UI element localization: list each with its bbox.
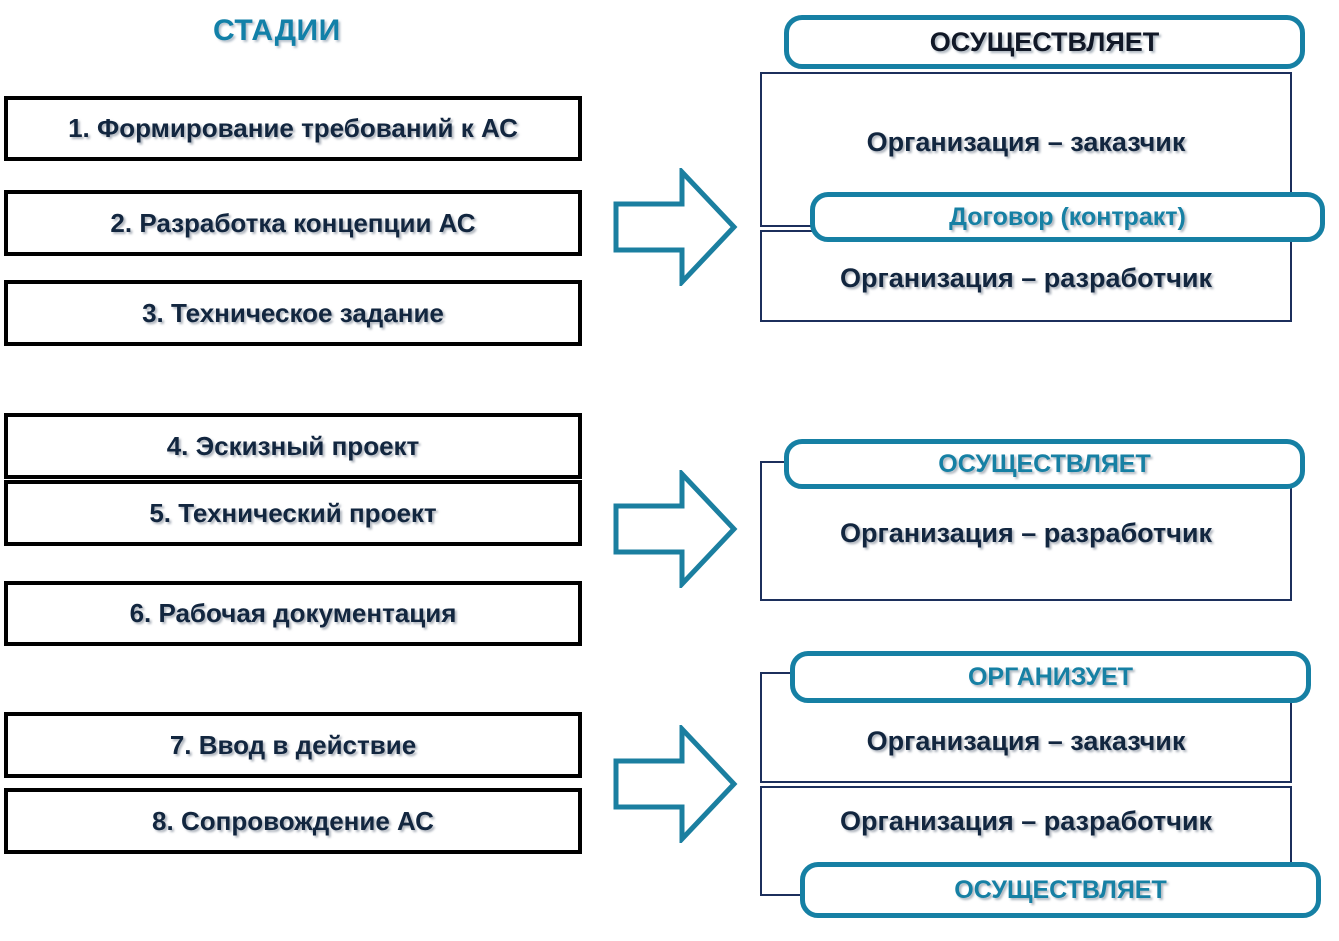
stage-box-7[interactable]: 7. Ввод в действие <box>4 712 582 778</box>
group-2-actor-1-label: Организация – разработчик <box>760 518 1292 549</box>
stage-box-4-label: 4. Эскизный проект <box>167 431 420 462</box>
group-2-pill-osushchestvlyaet[interactable]: ОСУЩЕСТВЛЯЕТ <box>784 439 1305 489</box>
stage-box-3-label: 3. Техническое задание <box>142 298 444 329</box>
stage-box-5[interactable]: 5. Технический проект <box>4 480 582 546</box>
stage-box-4[interactable]: 4. Эскизный проект <box>4 413 582 479</box>
group-1-actor-1-label: Организация – заказчик <box>760 127 1292 158</box>
stage-box-2-label: 2. Разработка концепции АС <box>110 208 475 239</box>
group-3-pill-osushchestvlyaet[interactable]: ОСУЩЕСТВЛЯЕТ <box>800 862 1321 918</box>
group-1-pill-contract[interactable]: Договор (контракт) <box>810 192 1325 242</box>
stage-box-6[interactable]: 6. Рабочая документация <box>4 581 582 646</box>
group-3-pill-top-label: ОРГАНИЗУЕТ <box>968 663 1133 692</box>
stage-box-5-label: 5. Технический проект <box>149 498 436 529</box>
group-1-pill-top-label: ОСУЩЕСТВЛЯЕТ <box>930 27 1159 58</box>
stage-box-6-label: 6. Рабочая документация <box>130 598 457 629</box>
diagram-canvas: СТАДИИ 1. Формирование требований к АС 2… <box>0 0 1339 941</box>
group-2-pill-top-label: ОСУЩЕСТВЛЯЕТ <box>938 450 1150 479</box>
stage-box-3[interactable]: 3. Техническое задание <box>4 280 582 346</box>
arrow-right-icon-3 <box>612 725 738 843</box>
stage-box-1-label: 1. Формирование требований к АС <box>68 113 518 144</box>
group-3-pill-organizuet[interactable]: ОРГАНИЗУЕТ <box>790 651 1311 703</box>
stages-title: СТАДИИ <box>213 14 341 48</box>
stage-box-8[interactable]: 8. Сопровождение АС <box>4 788 582 854</box>
group-3-actor-1-label: Организация – заказчик <box>760 726 1292 757</box>
stage-box-1[interactable]: 1. Формирование требований к АС <box>4 96 582 161</box>
group-1-actor-2-label: Организация – разработчик <box>760 263 1292 294</box>
group-3-actor-2-label: Организация – разработчик <box>760 806 1292 837</box>
arrow-right-icon-2 <box>612 470 738 588</box>
stage-box-7-label: 7. Ввод в действие <box>170 730 416 761</box>
arrow-right-icon-1 <box>612 168 738 286</box>
group-3-pill-bottom-label: ОСУЩЕСТВЛЯЕТ <box>954 876 1166 905</box>
group-1-pill-osushchestvlyaet[interactable]: ОСУЩЕСТВЛЯЕТ <box>784 15 1305 69</box>
stage-box-8-label: 8. Сопровождение АС <box>152 806 434 837</box>
group-1-pill-contract-label: Договор (контракт) <box>949 203 1186 232</box>
stage-box-2[interactable]: 2. Разработка концепции АС <box>4 190 582 256</box>
